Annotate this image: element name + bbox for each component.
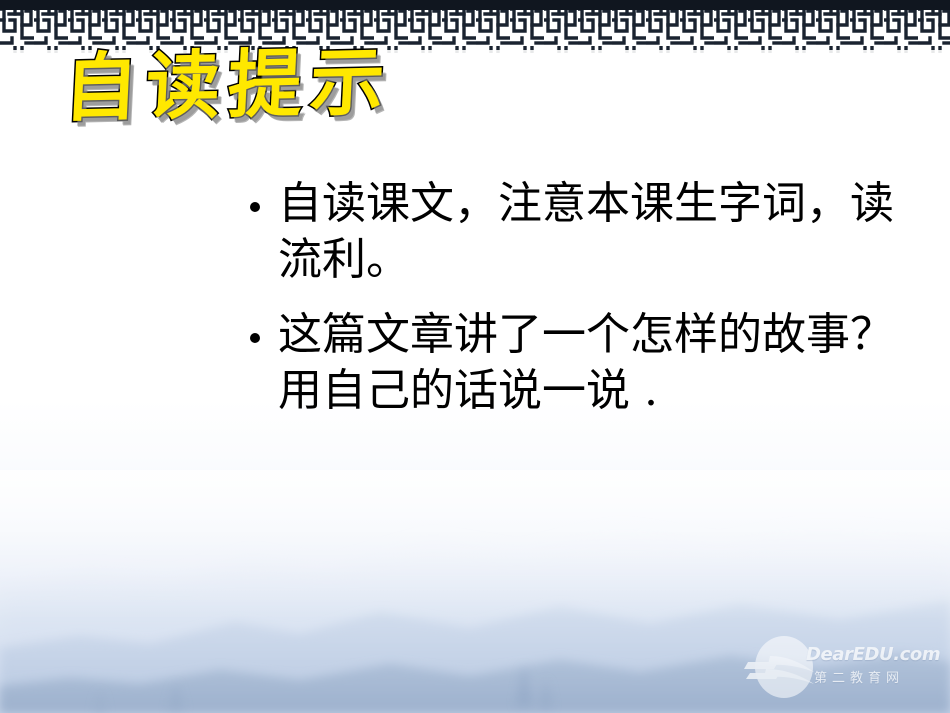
watermark-brand-cn: 第二教育网 xyxy=(814,667,904,686)
bullet-dot-icon xyxy=(250,202,260,212)
watermark-brand-en: DearEDU.com xyxy=(806,644,940,665)
bullet-text: 这篇文章讲了一个怎样的故事？用自己的话说一说 . xyxy=(278,307,920,420)
slide-title: 自读提示 xyxy=(62,45,394,126)
bullet-text: 自读课文，注意本课生字词，读流利。 xyxy=(278,176,920,289)
list-item: 自读课文，注意本课生字词，读流利。 xyxy=(250,176,920,289)
bullet-dot-icon xyxy=(250,333,260,343)
watermark-logo: DearEDU.com 第二教育网 xyxy=(740,636,945,702)
list-item: 这篇文章讲了一个怎样的故事？用自己的话说一说 . xyxy=(250,307,920,420)
bullet-list: 自读课文，注意本课生字词，读流利。 这篇文章讲了一个怎样的故事？用自己的话说一说… xyxy=(250,176,920,437)
slide-canvas: 自读提示 自读课文，注意本课生字词，读流利。 这篇文章讲了一个怎样的故事？用自己… xyxy=(0,0,950,713)
